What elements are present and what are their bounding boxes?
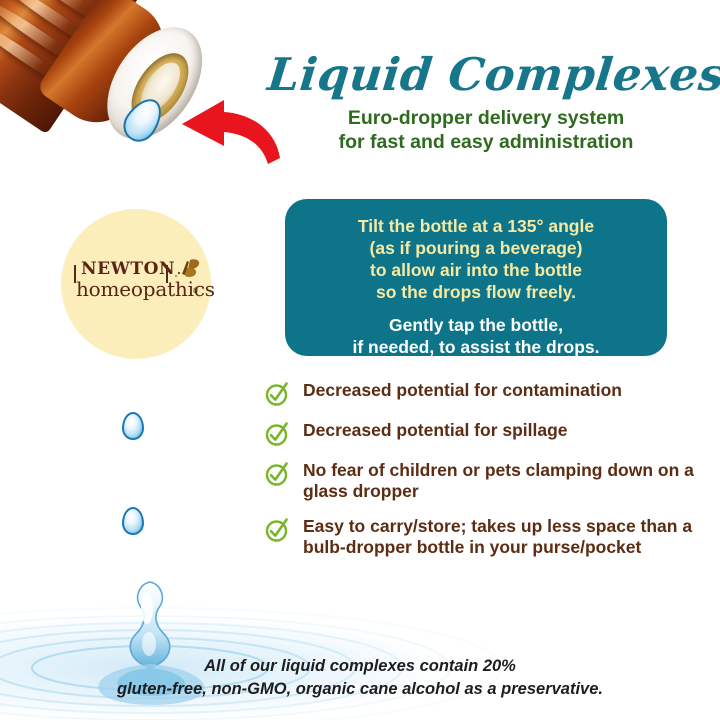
- brand-logo: NEWTON homeopathics ®: [61, 209, 211, 359]
- list-item: Decreased potential for spillage: [264, 420, 694, 447]
- subtitle-line-2: for fast and easy administration: [268, 131, 704, 155]
- logo-lockup: NEWTON homeopathics ®: [70, 257, 202, 311]
- instruction-primary: Tilt the bottle at a 135° angle (as if p…: [299, 215, 653, 303]
- check-circle-icon: [264, 517, 290, 543]
- butterfly-icon: [170, 257, 200, 283]
- water-droplet-icon: [122, 507, 144, 535]
- list-item-label: Easy to carry/store; takes up less space…: [303, 516, 694, 559]
- headline-block: Liquid Complexes Euro-dropper delivery s…: [268, 52, 704, 155]
- list-item: Decreased potential for contamination: [264, 380, 694, 407]
- list-item: No fear of children or pets clamping dow…: [264, 460, 694, 503]
- list-item-label: No fear of children or pets clamping dow…: [303, 460, 694, 503]
- instruction-primary-line: so the drops flow freely.: [299, 281, 653, 303]
- list-item-label: Decreased potential for spillage: [303, 420, 568, 441]
- footer-caption: All of our liquid complexes contain 20% …: [60, 655, 660, 702]
- list-item-label: Decreased potential for contamination: [303, 380, 622, 401]
- instruction-secondary-line: if needed, to assist the drops.: [299, 336, 653, 358]
- footer-line-2: gluten-free, non-GMO, organic cane alcoh…: [60, 678, 660, 701]
- check-circle-icon: [264, 421, 290, 447]
- infographic-page: Liquid Complexes Euro-dropper delivery s…: [0, 0, 720, 720]
- instruction-primary-line: (as if pouring a beverage): [299, 237, 653, 259]
- footer-line-1: All of our liquid complexes contain 20%: [60, 655, 660, 678]
- benefits-list: Decreased potential for contamination De…: [264, 380, 694, 571]
- red-curved-arrow-icon: [168, 98, 280, 170]
- instruction-primary-line: to allow air into the bottle: [299, 259, 653, 281]
- list-item: Easy to carry/store; takes up less space…: [264, 516, 694, 559]
- registered-mark: ®: [192, 287, 199, 295]
- instruction-callout: Tilt the bottle at a 135° angle (as if p…: [285, 199, 667, 356]
- page-title: Liquid Complexes: [266, 52, 707, 97]
- instruction-primary-line: Tilt the bottle at a 135° angle: [299, 215, 653, 237]
- instruction-secondary-line: Gently tap the bottle,: [299, 314, 653, 336]
- instruction-secondary: Gently tap the bottle, if needed, to ass…: [299, 314, 653, 358]
- check-circle-icon: [264, 461, 290, 487]
- logo-brand-top: NEWTON: [81, 261, 175, 278]
- page-subtitle: Euro-dropper delivery system for fast an…: [268, 107, 704, 155]
- check-circle-icon: [264, 381, 290, 407]
- water-droplet-icon: [122, 412, 144, 440]
- subtitle-line-1: Euro-dropper delivery system: [268, 107, 704, 131]
